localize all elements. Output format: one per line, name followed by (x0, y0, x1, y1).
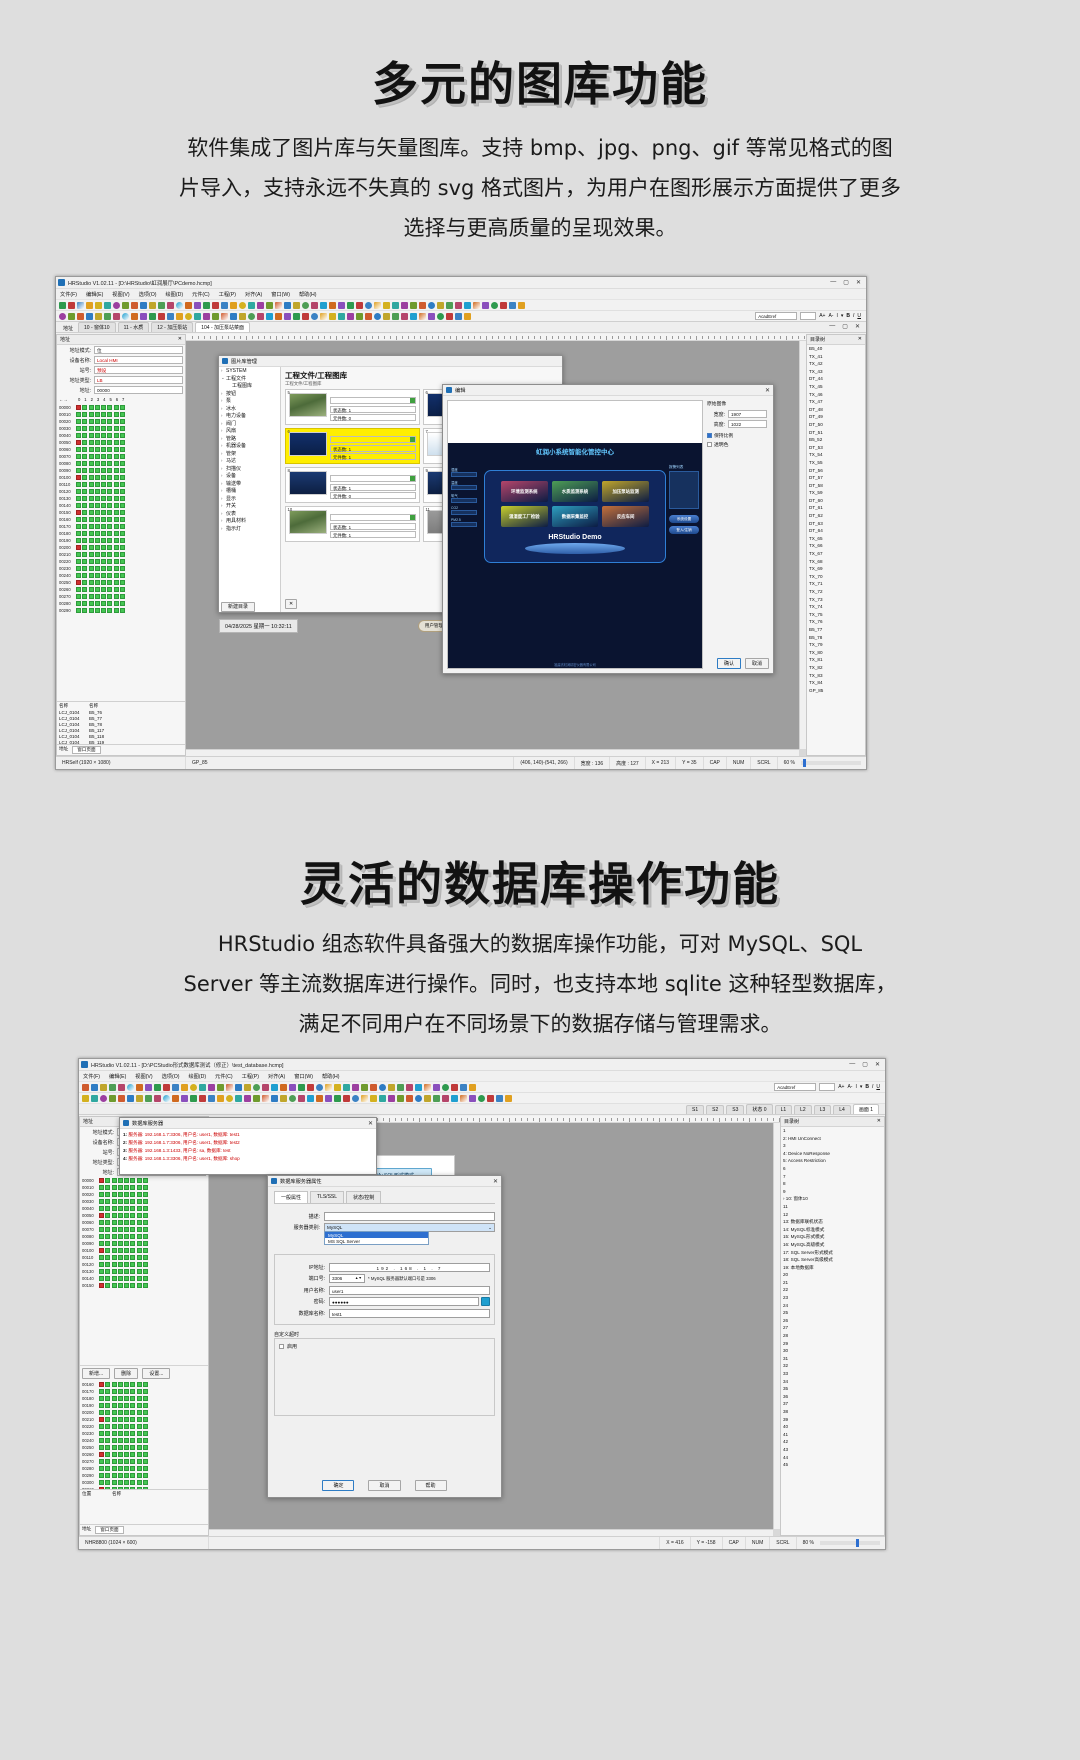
toolbar-icon-13[interactable] (397, 1095, 404, 1102)
bit-cell[interactable] (95, 566, 100, 571)
bit-cell[interactable] (101, 552, 106, 557)
bit-row[interactable]: 00170 (59, 523, 185, 530)
color-dropdown-icon-2[interactable]: ▾ (860, 1084, 863, 1090)
toolbar-icon-11[interactable] (428, 302, 435, 309)
bit-row[interactable]: 00280 (82, 1465, 208, 1472)
shot2-tab-list[interactable]: S1S2S3状态 0L1L2L3L4画面 1 (686, 1104, 879, 1114)
toolbar-icon-9[interactable] (397, 1084, 404, 1091)
toolbar-icon-2[interactable] (509, 302, 516, 309)
toolbar-icon-40[interactable] (113, 313, 120, 320)
bit-cell[interactable] (105, 1185, 110, 1190)
bit-cell[interactable] (101, 475, 106, 480)
bit-row[interactable]: 00150 (59, 509, 185, 516)
toolbar-icon-4[interactable] (442, 1084, 449, 1091)
zoom-slider-2[interactable] (820, 1541, 880, 1545)
tree-node[interactable]: ›SYSTEM (219, 367, 280, 375)
toolbar-icon-11[interactable] (379, 1084, 386, 1091)
bit-cell[interactable] (143, 1473, 148, 1478)
bit-cell[interactable] (114, 552, 119, 557)
bit-cell[interactable] (95, 594, 100, 599)
toolbar-icon-43[interactable] (127, 1095, 134, 1102)
toolbar-icon-23[interactable] (271, 1084, 278, 1091)
transparent-color-checkbox[interactable]: 透明色 (707, 441, 769, 448)
bit-cell[interactable] (99, 1255, 104, 1260)
toolbar-icon-2[interactable] (496, 1095, 503, 1102)
bit-cell[interactable] (95, 552, 100, 557)
bit-cell[interactable] (137, 1262, 142, 1267)
list-item[interactable]: 2: HMI UnConnect (781, 1135, 884, 1143)
bit-cell[interactable] (89, 447, 94, 452)
mdi-minimize-icon[interactable]: — (829, 323, 835, 330)
bit-cell[interactable] (82, 601, 87, 606)
bit-cell[interactable] (120, 517, 125, 522)
library-card[interactable]: 10状态数: 1元件数: 1 (285, 506, 420, 542)
transparent-color-check-icon[interactable] (707, 442, 712, 447)
bit-cell[interactable] (89, 489, 94, 494)
bit-cell[interactable] (118, 1417, 123, 1422)
bit-cell[interactable] (99, 1403, 104, 1408)
bit-cell[interactable] (105, 1417, 110, 1422)
list-item[interactable]: 43 (781, 1446, 884, 1454)
bit-cell[interactable] (118, 1269, 123, 1274)
bit-row[interactable]: 00120 (59, 488, 185, 495)
toolbar-icon-37[interactable] (140, 313, 147, 320)
toolbar-icon-38[interactable] (185, 302, 192, 309)
bit-cell[interactable] (137, 1466, 142, 1471)
bit-cell[interactable] (118, 1185, 123, 1190)
shot1-window-controls[interactable]: — ▢ ✕ (830, 279, 864, 286)
bit-row[interactable]: 00060 (82, 1219, 208, 1226)
card-name-input[interactable] (330, 397, 416, 404)
tree-node[interactable]: ›电力设备 (219, 412, 280, 420)
list-item[interactable]: 30 (781, 1347, 884, 1355)
bit-cell[interactable] (107, 531, 112, 536)
bit-cell[interactable] (114, 412, 119, 417)
bit-cell[interactable] (120, 426, 125, 431)
toolbar-icon-4[interactable] (437, 313, 444, 320)
tab-S3[interactable]: S3 (726, 1105, 744, 1114)
toolbar-icon-26[interactable] (280, 1095, 287, 1102)
bit-cell[interactable] (114, 482, 119, 487)
bit-cell[interactable] (143, 1389, 148, 1394)
close-icon-2[interactable]: ✕ (875, 1061, 880, 1068)
bit-cell[interactable] (107, 594, 112, 599)
bit-cell[interactable] (101, 496, 106, 501)
bit-cell[interactable] (118, 1255, 123, 1260)
bit-cell[interactable] (118, 1466, 123, 1471)
toolbar-icon-8[interactable] (401, 313, 408, 320)
toolbar-icon-17[interactable] (374, 302, 381, 309)
list-item[interactable]: 42 (781, 1438, 884, 1446)
toolbar-icon-4[interactable] (491, 302, 498, 309)
toolbar-icon-18[interactable] (316, 1084, 323, 1091)
toolbar-icon-34[interactable] (167, 313, 174, 320)
toolbar-icon-26[interactable] (239, 313, 246, 320)
menu-help[interactable]: 帮助(H) (299, 291, 317, 298)
menu2-help[interactable]: 帮助(H) (322, 1073, 340, 1080)
toolbar-icon-41[interactable] (104, 313, 111, 320)
bit-cell[interactable] (105, 1255, 110, 1260)
toolbar-icon-43[interactable] (86, 313, 93, 320)
bit-cell[interactable] (105, 1248, 110, 1253)
bit-cell[interactable] (112, 1178, 117, 1183)
list-item[interactable]: DT_49 (807, 413, 865, 421)
toolbar-icon-52[interactable] (59, 302, 66, 309)
list-item[interactable]: 8 (781, 1180, 884, 1188)
list-item[interactable]: TX_83 (807, 672, 865, 680)
bit-cell[interactable] (137, 1199, 142, 1204)
bit-cell[interactable] (82, 503, 87, 508)
bit-cell[interactable] (82, 559, 87, 564)
toolbar-icon-38[interactable] (131, 313, 138, 320)
bit-cell[interactable] (114, 531, 119, 536)
toolbar-icon-3[interactable] (500, 302, 507, 309)
list-item[interactable]: 34 (781, 1378, 884, 1386)
bit-row[interactable]: 00260 (82, 1451, 208, 1458)
bit-cell[interactable] (130, 1431, 135, 1436)
toolbar-icon-14[interactable] (347, 313, 354, 320)
bit-cell[interactable] (99, 1206, 104, 1211)
toolbar-icon-25[interactable] (289, 1095, 296, 1102)
bit-cell[interactable] (101, 587, 106, 592)
bit-cell[interactable] (89, 405, 94, 410)
bit-cell[interactable] (130, 1262, 135, 1267)
bit-cell[interactable] (95, 447, 100, 452)
bit-row[interactable]: 00210 (82, 1416, 208, 1423)
tab-104[interactable]: 104 - 加压泵站菜面 (195, 322, 250, 332)
bit-cell[interactable] (130, 1445, 135, 1450)
bit-cell[interactable] (76, 608, 81, 613)
tab-L3[interactable]: L3 (814, 1105, 832, 1114)
bit-cell[interactable] (120, 594, 125, 599)
toolbar-icon-19[interactable] (302, 313, 309, 320)
bit-cell[interactable] (95, 573, 100, 578)
bit-cell[interactable] (114, 559, 119, 564)
toolbar-icon-1[interactable] (505, 1095, 512, 1102)
list-item[interactable]: B5_40 (807, 345, 865, 353)
toolbar-icon-35[interactable] (163, 1084, 170, 1091)
bit-cell[interactable] (137, 1452, 142, 1457)
toolbar-icon-40[interactable] (154, 1095, 161, 1102)
toolbar-icon-20[interactable] (347, 302, 354, 309)
bit-cell[interactable] (99, 1438, 104, 1443)
list-item[interactable]: TX_45 (807, 383, 865, 391)
bit-cell[interactable] (120, 496, 125, 501)
toolbar-icon-16[interactable] (370, 1095, 377, 1102)
bit-cell[interactable] (105, 1389, 110, 1394)
bit-row[interactable]: 00010 (59, 411, 185, 418)
canvas-vscrollbar-2[interactable] (773, 1123, 780, 1529)
bit-cell[interactable] (107, 454, 112, 459)
menu-component[interactable]: 元件(C) (192, 291, 210, 298)
bit-cell[interactable] (105, 1480, 110, 1485)
bit-cell[interactable] (99, 1466, 104, 1471)
db-server-row[interactable]: 3: 服务器: 192.168.1.3:1433, 用户名: sa, 数据库: … (123, 1147, 373, 1155)
bit-cell[interactable] (114, 601, 119, 606)
bit-cell[interactable] (76, 573, 81, 578)
bit-row[interactable]: 00090 (59, 467, 185, 474)
edit-dialog-close-icon[interactable]: ✕ (765, 387, 770, 394)
bit-row[interactable]: 00270 (59, 593, 185, 600)
bit-cell[interactable] (137, 1227, 142, 1232)
object-tree-close-icon-2[interactable]: ✕ (877, 1118, 881, 1125)
bit-cell[interactable] (105, 1473, 110, 1478)
tree-node[interactable]: ›设备 (219, 472, 280, 480)
bit-cell[interactable] (130, 1276, 135, 1281)
list-item[interactable]: 20 (781, 1271, 884, 1279)
toolbar-icon-33[interactable] (217, 1095, 224, 1102)
bit-cell[interactable] (95, 489, 100, 494)
bit-cell[interactable] (112, 1396, 117, 1401)
hmi-function-button[interactable]: 加压泵站监测 (602, 481, 649, 502)
bit-cell[interactable] (143, 1452, 148, 1457)
bit-cell[interactable] (118, 1431, 123, 1436)
bit-cell[interactable] (76, 594, 81, 599)
bit-cell[interactable] (120, 503, 125, 508)
bit-cell[interactable] (76, 517, 81, 522)
bit-cell[interactable] (137, 1248, 142, 1253)
bit-row[interactable]: 00160 (82, 1381, 208, 1388)
bit-cell[interactable] (105, 1178, 110, 1183)
list-item[interactable]: 38 (781, 1408, 884, 1416)
bit-cell[interactable] (130, 1382, 135, 1387)
bit-cell[interactable] (124, 1480, 129, 1485)
toolbar-icon-36[interactable] (203, 302, 210, 309)
bit-cell[interactable] (112, 1417, 117, 1422)
bit-cell[interactable] (124, 1445, 129, 1450)
show-password-icon[interactable] (481, 1297, 490, 1306)
bit-cell[interactable] (101, 594, 106, 599)
bit-cell[interactable] (82, 496, 87, 501)
list-item[interactable]: TX_42 (807, 360, 865, 368)
bit-cell[interactable] (107, 524, 112, 529)
bit-row[interactable]: 00040 (59, 432, 185, 439)
toolbar-icon-26[interactable] (244, 1084, 251, 1091)
mdi-close-icon[interactable]: ✕ (855, 323, 860, 330)
canvas-hscrollbar[interactable] (186, 749, 799, 756)
bit-cell[interactable] (89, 412, 94, 417)
bit-cell[interactable] (76, 433, 81, 438)
list-item[interactable]: TX_67 (807, 550, 865, 558)
bit-cell[interactable] (105, 1424, 110, 1429)
bit-cell[interactable] (112, 1452, 117, 1457)
toolbar-icon-30[interactable] (203, 313, 210, 320)
list-item[interactable]: 7 (781, 1173, 884, 1181)
bit-cell[interactable] (95, 538, 100, 543)
bit-cell[interactable] (76, 552, 81, 557)
bit-row[interactable]: 00230 (59, 565, 185, 572)
toolbar-icon-36[interactable] (190, 1095, 197, 1102)
font-shrink-button[interactable]: A- (828, 313, 833, 319)
bit-grid[interactable]: 0000000010000200003000040000500006000070… (59, 404, 185, 701)
toolbar-icon-44[interactable] (82, 1084, 89, 1091)
toolbar-icon-49[interactable] (86, 302, 93, 309)
tree-node[interactable]: ›马达 (219, 457, 280, 465)
toolbar-icon-48[interactable] (95, 302, 102, 309)
db-user-input[interactable]: user1 (329, 1286, 490, 1295)
bit-cell[interactable] (99, 1234, 104, 1239)
toolbar-icon-12[interactable] (406, 1095, 413, 1102)
bit-cell[interactable] (95, 405, 100, 410)
bit-cell[interactable] (89, 531, 94, 536)
font-size-select-2[interactable] (819, 1083, 835, 1091)
toolbar-icon-6[interactable] (460, 1095, 467, 1102)
bit-cell[interactable] (112, 1227, 117, 1232)
bit-cell[interactable] (114, 489, 119, 494)
bit-cell[interactable] (112, 1220, 117, 1225)
toolbar-icon-47[interactable] (104, 302, 111, 309)
db-cancel-button[interactable]: 取消 (368, 1480, 400, 1491)
toolbar-icon-24[interactable] (257, 313, 264, 320)
bit-cell[interactable] (89, 538, 94, 543)
bit-cell[interactable] (137, 1276, 142, 1281)
bit-cell[interactable] (124, 1459, 129, 1464)
list-item[interactable]: 27 (781, 1324, 884, 1332)
tree-node[interactable]: ›风扇 (219, 427, 280, 435)
bit-cell[interactable] (107, 608, 112, 613)
db-name-input[interactable]: test1 (329, 1309, 490, 1318)
bit-cell[interactable] (101, 524, 106, 529)
bit-cell[interactable] (124, 1234, 129, 1239)
bit-cell[interactable] (101, 412, 106, 417)
menu2-view[interactable]: 视图(V) (135, 1073, 152, 1080)
tree-node[interactable]: 工程图库 (219, 382, 280, 390)
address-type-value[interactable]: LB (94, 376, 183, 384)
hmi-side-buttons[interactable]: 系统设置登入/注销 (669, 515, 699, 534)
hmi-side-button[interactable]: 系统设置 (669, 515, 699, 523)
library-card[interactable]: 8状态数: 1元件数: 0 (285, 467, 420, 503)
list-item[interactable]: DT_57 (807, 474, 865, 482)
bit-row[interactable]: 00260 (59, 586, 185, 593)
toolbar-icon-14[interactable] (388, 1095, 395, 1102)
object-tree-list[interactable]: B5_40TX_41TX_42TX_43DT_44TX_45TX_46TX_47… (807, 345, 865, 755)
toolbar-icon-29[interactable] (266, 302, 273, 309)
list-item[interactable]: DT_62 (807, 512, 865, 520)
bit-cell[interactable] (124, 1438, 129, 1443)
list-item[interactable]: 19: 本地数据库 (781, 1264, 884, 1272)
menu-project[interactable]: 工程(P) (219, 291, 236, 298)
bit-cell[interactable] (112, 1234, 117, 1239)
bit-cell[interactable] (107, 517, 112, 522)
list-item[interactable]: TX_55 (807, 459, 865, 467)
settings-button[interactable]: 设置... (142, 1368, 170, 1379)
bit-cell[interactable] (114, 587, 119, 592)
bit-cell[interactable] (120, 552, 125, 557)
bit-cell[interactable] (130, 1424, 135, 1429)
bit-cell[interactable] (95, 412, 100, 417)
bit-cell[interactable] (82, 482, 87, 487)
shot1-toolbar-row-1[interactable] (56, 300, 866, 311)
bit-cell[interactable] (105, 1396, 110, 1401)
bit-cell[interactable] (112, 1480, 117, 1485)
bit-cell[interactable] (137, 1480, 142, 1485)
bit-cell[interactable] (120, 475, 125, 480)
toolbar-icon-38[interactable] (172, 1095, 179, 1102)
toolbar-icon-16[interactable] (383, 302, 390, 309)
hmi-function-button[interactable]: 水质监测系统 (552, 481, 599, 502)
bit-cell[interactable] (114, 608, 119, 613)
toolbar-icon-23[interactable] (307, 1095, 314, 1102)
toolbar-icon-10[interactable] (424, 1095, 431, 1102)
bit-cell[interactable] (76, 587, 81, 592)
toolbar-icon-5[interactable] (428, 313, 435, 320)
toolbar-icon-40[interactable] (118, 1084, 125, 1091)
toolbar-icon-24[interactable] (298, 1095, 305, 1102)
bit-cell[interactable] (137, 1459, 142, 1464)
bit-cell[interactable] (76, 538, 81, 543)
toolbar-icon-37[interactable] (194, 302, 201, 309)
bit-cell[interactable] (120, 587, 125, 592)
list-item[interactable]: 9 (781, 1188, 884, 1196)
bit-cell[interactable] (89, 510, 94, 515)
edit-pencil-icon[interactable] (410, 398, 415, 403)
toolbar-icon-45[interactable] (68, 313, 75, 320)
bit-cell[interactable] (124, 1396, 129, 1401)
bit-cell[interactable] (137, 1417, 142, 1422)
bit-cell[interactable] (112, 1269, 117, 1274)
bit-cell[interactable] (114, 468, 119, 473)
bit-cell[interactable] (114, 545, 119, 550)
toolbar-icon-42[interactable] (149, 302, 156, 309)
list-item[interactable]: DT_61 (807, 504, 865, 512)
bit-cell[interactable] (124, 1283, 129, 1288)
list-item[interactable]: 16: MySQL高级模式 (781, 1241, 884, 1249)
bit-cell[interactable] (107, 503, 112, 508)
maximize-icon[interactable]: ▢ (843, 279, 849, 286)
menu2-align[interactable]: 对齐(A) (268, 1073, 285, 1080)
menu-align[interactable]: 对齐(A) (245, 291, 262, 298)
bit-cell[interactable] (143, 1185, 148, 1190)
bit-cell[interactable] (114, 517, 119, 522)
bit-cell[interactable] (124, 1192, 129, 1197)
toolbar-icon-5[interactable] (433, 1084, 440, 1091)
bit-cell[interactable] (124, 1178, 129, 1183)
bit-cell[interactable] (101, 566, 106, 571)
bit-cell[interactable] (107, 447, 112, 452)
toolbar-icon-45[interactable] (122, 302, 129, 309)
bit-row[interactable]: 00130 (59, 495, 185, 502)
bit-cell[interactable] (120, 531, 125, 536)
toolbar-icon-46[interactable] (100, 1095, 107, 1102)
bit-cell[interactable] (89, 503, 94, 508)
bit-cell[interactable] (130, 1199, 135, 1204)
database-server-list-dialog[interactable]: 数据库服务器 ✕ 1: 服务器: 192.168.1.7:3306, 用户名: … (119, 1117, 377, 1175)
toolbar-icon-39[interactable] (122, 313, 129, 320)
bit-cell[interactable] (82, 573, 87, 578)
card-name-input[interactable] (330, 475, 416, 482)
toolbar-icon-42[interactable] (100, 1084, 107, 1091)
edit-ok-button[interactable]: 确认 (717, 658, 741, 669)
bit-cell[interactable] (89, 426, 94, 431)
shot2-menubar[interactable]: 文件(F) 编辑(E) 视图(V) 选项(O) 绘图(D) 元件(C) 工程(P… (79, 1071, 885, 1082)
toolbar-icon-1[interactable] (518, 302, 525, 309)
toolbar-icon-22[interactable] (280, 1084, 287, 1091)
bit-cell[interactable] (89, 573, 94, 578)
toolbar-icon-28[interactable] (221, 313, 228, 320)
list-item[interactable]: 24 (781, 1302, 884, 1310)
db-props-tabs[interactable]: 一般属性TLS/SSL状态/控制 (274, 1191, 495, 1204)
bit-cell[interactable] (89, 454, 94, 459)
bit-cell[interactable] (137, 1269, 142, 1274)
bit-cell[interactable] (82, 517, 87, 522)
bold-button[interactable]: B (846, 313, 850, 319)
list-item[interactable]: 32 (781, 1362, 884, 1370)
list-item[interactable]: B5_52 (807, 436, 865, 444)
bit-cell[interactable] (105, 1262, 110, 1267)
hmi-side-button[interactable]: 登入/注销 (669, 526, 699, 534)
bit-cell[interactable] (143, 1220, 148, 1225)
toolbar-icon-22[interactable] (275, 313, 282, 320)
